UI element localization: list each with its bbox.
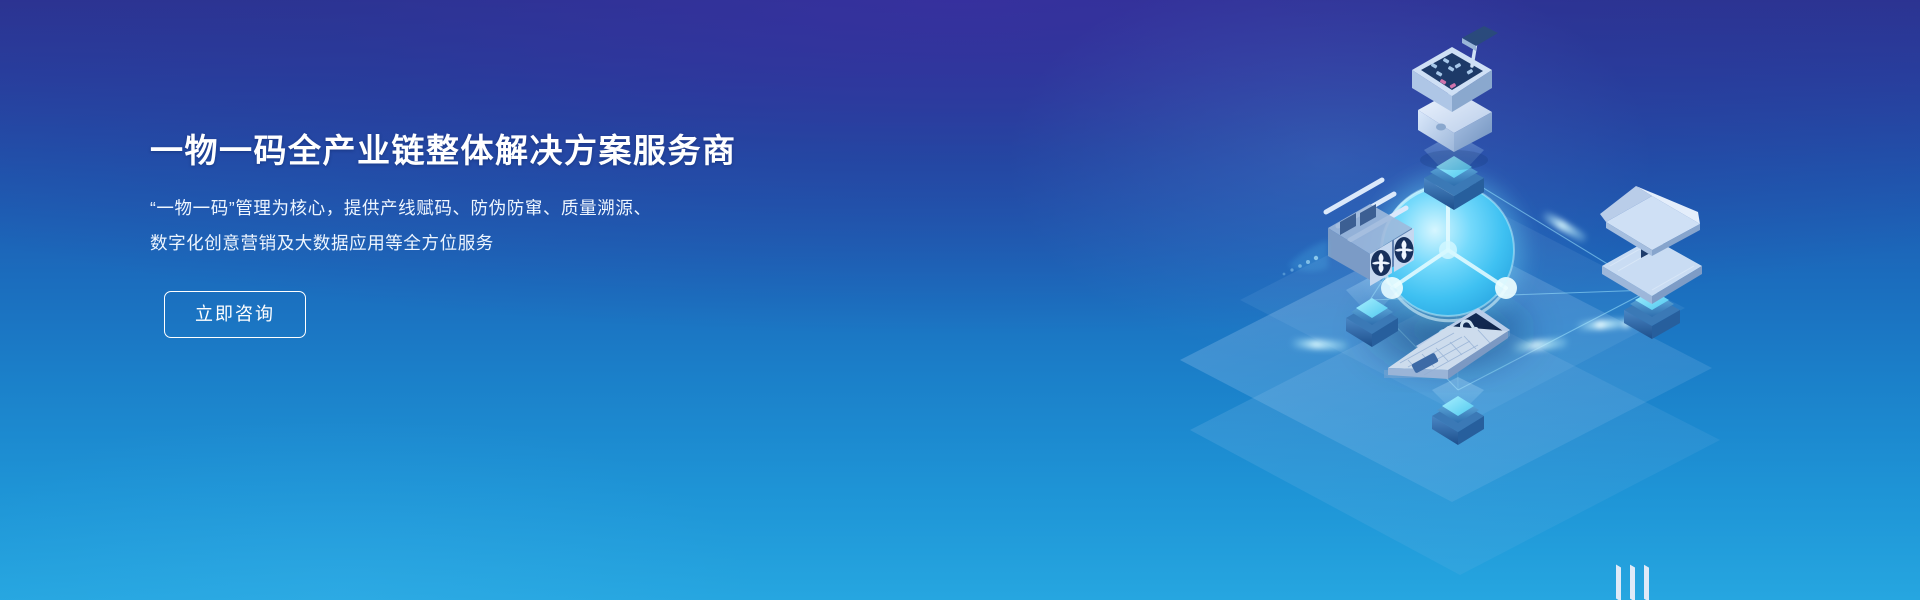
page-title: 一物一码全产业链整体解决方案服务商 xyxy=(150,130,870,171)
background-glow-bottom xyxy=(0,330,940,600)
subtitle-line-2: 数字化创意营销及大数据应用等全方位服务 xyxy=(150,226,870,261)
subtitle-line-1: “一物一码”管理为核心，提供产线赋码、防伪防窜、质量溯源、 xyxy=(150,191,870,226)
consult-now-button[interactable]: 立即咨询 xyxy=(164,291,306,338)
hero-subtitle: “一物一码”管理为核心，提供产线赋码、防伪防窜、质量溯源、 数字化创意营销及大数… xyxy=(150,191,870,261)
hero-copy: 一物一码全产业链整体解决方案服务商 “一物一码”管理为核心，提供产线赋码、防伪防… xyxy=(150,130,870,338)
pos-terminal-icon xyxy=(1412,26,1498,152)
hero-banner: 一物一码全产业链整体解决方案服务商 “一物一码”管理为核心，提供产线赋码、防伪防… xyxy=(0,0,1920,600)
hero-illustration xyxy=(1040,0,1920,600)
